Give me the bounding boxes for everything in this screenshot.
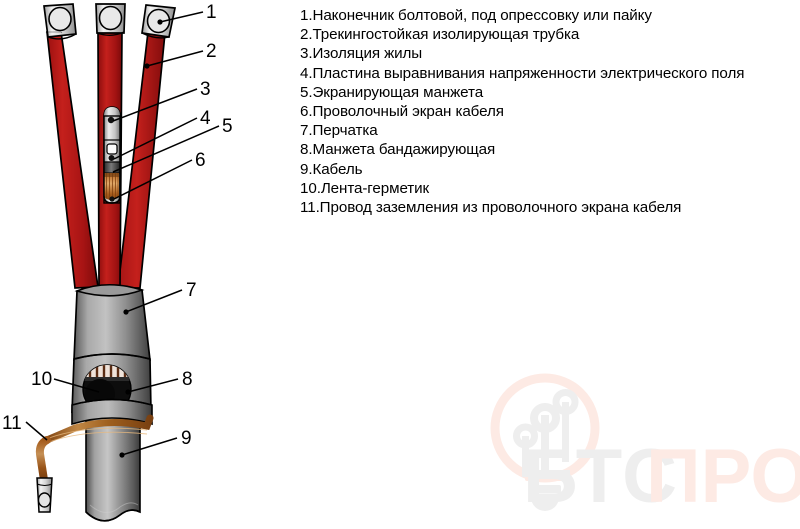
watermark-logo: БТС ПРОМ — [495, 378, 800, 519]
legend-item: 5.Экранирующая манжета — [300, 83, 796, 102]
callout-9: 9 — [181, 428, 192, 449]
legend-item: 10.Лента-герметик — [300, 179, 796, 198]
callout-2: 2 — [206, 41, 217, 62]
bolt-lug-left — [44, 4, 76, 39]
callout-4: 4 — [200, 108, 211, 129]
legend-item: 8.Манжета бандажирующая — [300, 140, 796, 159]
legend-item: 7.Перчатка — [300, 121, 796, 140]
legend-item: 4.Пластина выравнивания напряженности эл… — [300, 64, 796, 83]
shielding-cuff — [104, 162, 120, 173]
cutaway-window — [104, 107, 120, 203]
insulating-tube-left — [47, 32, 98, 288]
legend-list: 1.Наконечник болтовой, под опрессовку ил… — [300, 6, 796, 217]
callout-11: 11 — [2, 413, 22, 434]
legend-item: 1.Наконечник болтовой, под опрессовку ил… — [300, 6, 796, 25]
callout-5: 5 — [222, 116, 233, 137]
callout-6: 6 — [195, 150, 206, 171]
legend-item: 6.Проволочный экран кабеля — [300, 102, 796, 121]
callout-1: 1 — [206, 2, 217, 23]
ground-lug — [37, 478, 52, 512]
legend-item: 2.Трекингостойкая изолирующая трубка — [300, 25, 796, 44]
bolt-lug-middle — [96, 4, 125, 35]
callout-8: 8 — [182, 369, 193, 390]
legend-item: 9.Кабель — [300, 160, 796, 179]
legend-item: 11.Провод заземления из проволочного экр… — [300, 198, 796, 217]
legend-item: 3.Изоляция жилы — [300, 44, 796, 63]
core-insulation — [104, 107, 120, 140]
watermark-text-red: ПРОМ — [646, 434, 800, 519]
callout-3: 3 — [200, 79, 211, 100]
diagram-page: БТС ПРОМ — [0, 0, 800, 529]
callout-10: 10 — [31, 369, 52, 390]
stress-control-plate — [104, 140, 120, 162]
callout-7: 7 — [186, 280, 197, 301]
